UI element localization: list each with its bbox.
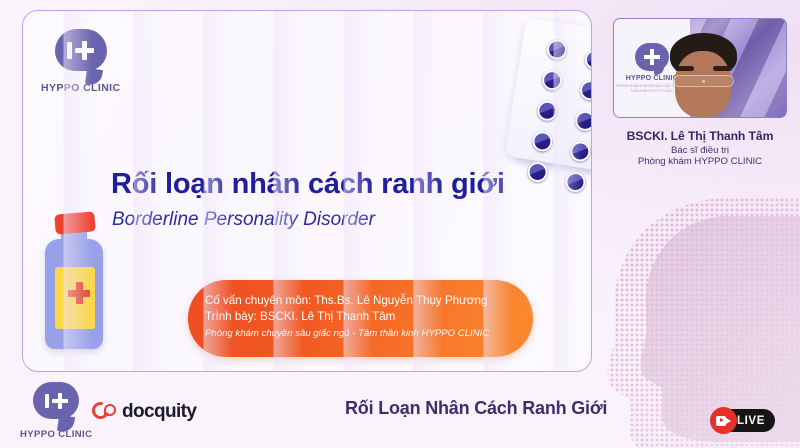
pill-capsule [526, 160, 549, 183]
speech-bubble-icon [29, 382, 83, 426]
webinar-stage: HYPPO CLINIC [0, 0, 800, 448]
slide-title-vietnamese: Rối loạn nhân cách ranh giới [111, 168, 505, 201]
live-label: LIVE [737, 415, 765, 427]
medical-cross-icon [68, 282, 90, 304]
speaker-role: Bác sĩ điều trị [671, 145, 729, 156]
footer-clinic-logo-label: HYPPO CLINIC [20, 429, 92, 440]
pill-capsule [545, 38, 568, 61]
pill-capsule [540, 68, 563, 91]
medical-cross-icon [52, 393, 68, 409]
hyppo-clinic-logo: HYPPO CLINIC [41, 29, 120, 94]
speaker-name: BSCKI. Lê Thị Thanh Tâm [627, 129, 774, 143]
pill-capsule [573, 109, 592, 132]
speech-bubble-icon [635, 43, 669, 71]
presentation-slide: HYPPO CLINIC [22, 10, 592, 372]
speech-bubble-icon [51, 29, 111, 79]
docquity-brand-logo: docquity [92, 400, 196, 424]
medicine-bottle-illustration [31, 207, 109, 357]
pill-capsule [583, 48, 592, 71]
clinic-specialty-note: Phòng khám chuyên sâu giấc ngủ - Tâm thầ… [205, 328, 533, 339]
advisor-line: Cố vấn chuyên môn: Ths.Bs. Lê Nguyễn Thụ… [205, 293, 533, 309]
video-camera-icon [710, 407, 737, 434]
bottle-cap [54, 211, 96, 234]
pill-capsule [564, 171, 587, 194]
presenter-line: Trình bày: BSCKI. Lê Thị Thanh Tâm [205, 309, 533, 325]
footer-hyppo-clinic-logo: HYPPO CLINIC [20, 382, 92, 440]
eyeglasses [673, 75, 734, 88]
docquity-wordmark: docquity [122, 401, 196, 423]
docquity-mark-icon [92, 400, 116, 424]
slide-title-english: Borderline Personality Disorder [112, 209, 375, 231]
medical-cross-icon [75, 41, 94, 60]
speaker-organization: Phòng khám HYPPO CLINIC [638, 156, 762, 167]
speaker-panel: HYPPO CLINIC PHÒNG KHÁM CHUYÊN SÂU GIẤC … [612, 18, 788, 167]
live-status-badge: LIVE [712, 409, 775, 432]
session-title: Rối Loạn Nhân Cách Ranh Giới [345, 398, 607, 419]
pill-capsule [578, 79, 592, 102]
pill-capsule [531, 129, 554, 152]
speaker-video-tile[interactable]: HYPPO CLINIC PHÒNG KHÁM CHUYÊN SÂU GIẤC … [613, 18, 787, 118]
pill-capsule [568, 140, 591, 163]
clinic-logo-label: HYPPO CLINIC [41, 82, 120, 94]
speaker-webcam-figure [666, 33, 742, 117]
credits-callout-box: Cố vấn chuyên môn: Ths.Bs. Lê Nguyễn Thụ… [188, 280, 533, 357]
pill-capsule [535, 99, 558, 122]
pill-blister-pack-illustration [515, 25, 592, 165]
